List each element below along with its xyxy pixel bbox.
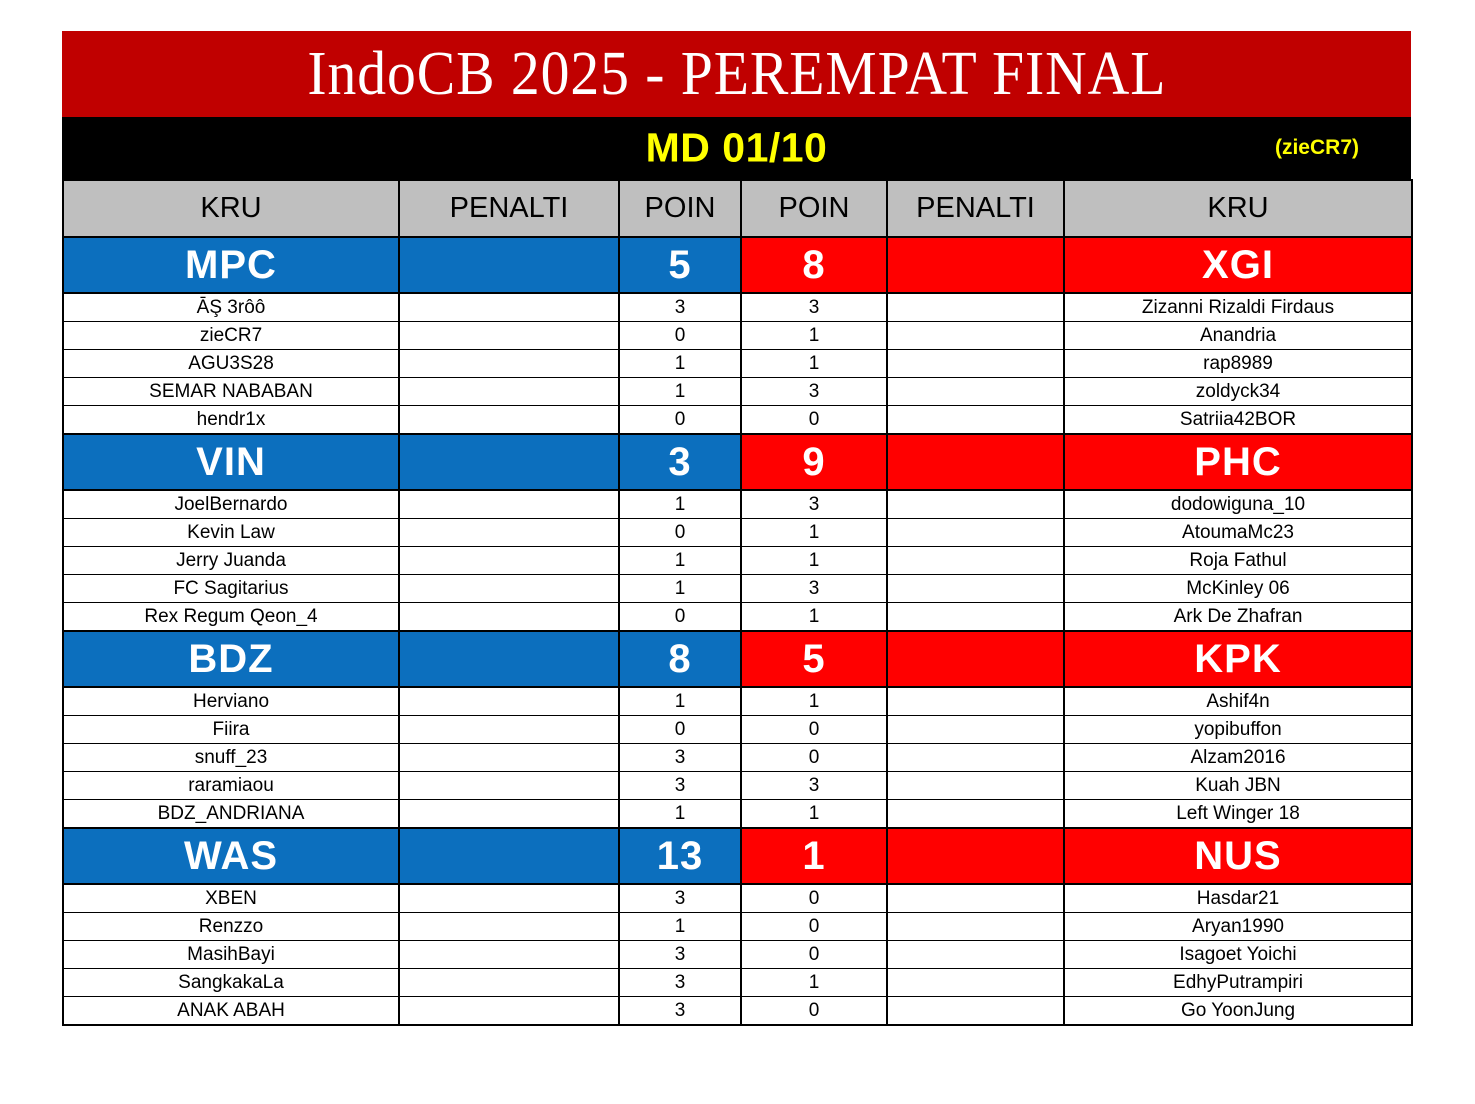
away-player-points: 1 bbox=[741, 603, 887, 632]
home-player-points: 3 bbox=[619, 969, 741, 997]
away-score: 9 bbox=[741, 434, 887, 490]
player-row: Herviano11Ashif4n bbox=[63, 687, 1412, 716]
player-row: XBEN30Hasdar21 bbox=[63, 884, 1412, 913]
home-player-penalty bbox=[399, 547, 619, 575]
home-team-name: WAS bbox=[63, 828, 399, 884]
away-player-points: 0 bbox=[741, 716, 887, 744]
scoreboard-sheet: IndoCB 2025 - PEREMPAT FINAL MD 01/10 (z… bbox=[62, 31, 1411, 1026]
away-player-name: Left Winger 18 bbox=[1064, 800, 1412, 829]
home-team-name: VIN bbox=[63, 434, 399, 490]
match-header-row: VIN39PHC bbox=[63, 434, 1412, 490]
away-team-name: XGI bbox=[1064, 237, 1412, 293]
home-player-penalty bbox=[399, 603, 619, 632]
away-player-points: 1 bbox=[741, 519, 887, 547]
home-player-points: 3 bbox=[619, 744, 741, 772]
player-row: ANAK ABAH30Go YoonJung bbox=[63, 997, 1412, 1026]
away-player-name: Go YoonJung bbox=[1064, 997, 1412, 1026]
home-player-penalty bbox=[399, 884, 619, 913]
away-player-points: 0 bbox=[741, 941, 887, 969]
home-penalty-cell bbox=[399, 828, 619, 884]
header-penalti-left: PENALTI bbox=[399, 180, 619, 237]
away-player-name: yopibuffon bbox=[1064, 716, 1412, 744]
home-player-name: snuff_23 bbox=[63, 744, 399, 772]
matchday-credit: (zieCR7) bbox=[1275, 136, 1359, 160]
home-player-points: 1 bbox=[619, 378, 741, 406]
away-player-points: 0 bbox=[741, 913, 887, 941]
home-player-penalty bbox=[399, 744, 619, 772]
header-poin-right: POIN bbox=[741, 180, 887, 237]
away-player-points: 3 bbox=[741, 378, 887, 406]
away-player-penalty bbox=[887, 519, 1064, 547]
away-player-penalty bbox=[887, 603, 1064, 632]
home-player-name: Fiira bbox=[63, 716, 399, 744]
away-player-penalty bbox=[887, 884, 1064, 913]
away-player-points: 0 bbox=[741, 744, 887, 772]
home-player-points: 1 bbox=[619, 687, 741, 716]
home-player-name: Herviano bbox=[63, 687, 399, 716]
home-player-name: FC Sagitarius bbox=[63, 575, 399, 603]
away-player-name: Ashif4n bbox=[1064, 687, 1412, 716]
home-player-points: 3 bbox=[619, 884, 741, 913]
home-player-name: Rex Regum Qeon_4 bbox=[63, 603, 399, 632]
away-player-penalty bbox=[887, 687, 1064, 716]
home-player-penalty bbox=[399, 997, 619, 1026]
away-player-penalty bbox=[887, 800, 1064, 829]
header-poin-left: POIN bbox=[619, 180, 741, 237]
away-player-name: Isagoet Yoichi bbox=[1064, 941, 1412, 969]
away-player-name: Hasdar21 bbox=[1064, 884, 1412, 913]
away-player-penalty bbox=[887, 490, 1064, 519]
home-player-name: JoelBernardo bbox=[63, 490, 399, 519]
away-player-name: dodowiguna_10 bbox=[1064, 490, 1412, 519]
scoreboard-body: KRU PENALTI POIN POIN PENALTI KRU MPC58X… bbox=[63, 180, 1412, 1025]
player-row: SEMAR NABABAN13zoldyck34 bbox=[63, 378, 1412, 406]
home-player-points: 1 bbox=[619, 575, 741, 603]
home-score: 8 bbox=[619, 631, 741, 687]
header-kru-left: KRU bbox=[63, 180, 399, 237]
away-player-name: Aryan1990 bbox=[1064, 913, 1412, 941]
player-row: FC Sagitarius13McKinley 06 bbox=[63, 575, 1412, 603]
home-player-name: XBEN bbox=[63, 884, 399, 913]
home-player-name: SEMAR NABABAN bbox=[63, 378, 399, 406]
away-player-points: 3 bbox=[741, 490, 887, 519]
match-header-row: MPC58XGI bbox=[63, 237, 1412, 293]
home-penalty-cell bbox=[399, 434, 619, 490]
away-team-name: KPK bbox=[1064, 631, 1412, 687]
away-player-penalty bbox=[887, 772, 1064, 800]
home-player-points: 1 bbox=[619, 800, 741, 829]
player-row: JoelBernardo13dodowiguna_10 bbox=[63, 490, 1412, 519]
player-row: SangkakaLa31EdhyPutrampiri bbox=[63, 969, 1412, 997]
home-player-points: 0 bbox=[619, 519, 741, 547]
home-player-penalty bbox=[399, 519, 619, 547]
home-player-points: 3 bbox=[619, 293, 741, 322]
away-player-points: 1 bbox=[741, 687, 887, 716]
home-player-points: 1 bbox=[619, 547, 741, 575]
away-player-penalty bbox=[887, 969, 1064, 997]
away-player-name: Alzam2016 bbox=[1064, 744, 1412, 772]
away-player-name: EdhyPutrampiri bbox=[1064, 969, 1412, 997]
away-team-name: NUS bbox=[1064, 828, 1412, 884]
header-kru-right: KRU bbox=[1064, 180, 1412, 237]
home-player-name: Kevin Law bbox=[63, 519, 399, 547]
away-score: 1 bbox=[741, 828, 887, 884]
tournament-title-banner: IndoCB 2025 - PEREMPAT FINAL bbox=[62, 31, 1411, 117]
column-header-row: KRU PENALTI POIN POIN PENALTI KRU bbox=[63, 180, 1412, 237]
away-player-penalty bbox=[887, 913, 1064, 941]
player-row: snuff_2330Alzam2016 bbox=[63, 744, 1412, 772]
away-player-penalty bbox=[887, 547, 1064, 575]
home-player-points: 1 bbox=[619, 350, 741, 378]
home-player-penalty bbox=[399, 716, 619, 744]
away-player-name: Zizanni Rizaldi Firdaus bbox=[1064, 293, 1412, 322]
away-player-penalty bbox=[887, 293, 1064, 322]
away-player-name: Anandria bbox=[1064, 322, 1412, 350]
matchday-label: MD 01/10 bbox=[62, 125, 1411, 172]
home-player-penalty bbox=[399, 322, 619, 350]
away-player-name: Ark De Zhafran bbox=[1064, 603, 1412, 632]
home-penalty-cell bbox=[399, 237, 619, 293]
away-player-name: rap8989 bbox=[1064, 350, 1412, 378]
away-player-penalty bbox=[887, 575, 1064, 603]
home-player-name: SangkakaLa bbox=[63, 969, 399, 997]
home-player-name: AGU3S28 bbox=[63, 350, 399, 378]
home-player-name: raramiaou bbox=[63, 772, 399, 800]
away-player-penalty bbox=[887, 406, 1064, 435]
player-row: Kevin Law01AtoumaMc23 bbox=[63, 519, 1412, 547]
player-row: BDZ_ANDRIANA11Left Winger 18 bbox=[63, 800, 1412, 829]
away-player-penalty bbox=[887, 744, 1064, 772]
home-player-name: Renzzo bbox=[63, 913, 399, 941]
away-player-points: 1 bbox=[741, 969, 887, 997]
player-row: zieCR701Anandria bbox=[63, 322, 1412, 350]
away-score: 5 bbox=[741, 631, 887, 687]
home-player-points: 0 bbox=[619, 716, 741, 744]
header-penalti-right: PENALTI bbox=[887, 180, 1064, 237]
home-player-name: zieCR7 bbox=[63, 322, 399, 350]
away-player-name: Kuah JBN bbox=[1064, 772, 1412, 800]
player-row: ĀŞ 3rôô33Zizanni Rizaldi Firdaus bbox=[63, 293, 1412, 322]
home-player-points: 3 bbox=[619, 941, 741, 969]
away-score: 8 bbox=[741, 237, 887, 293]
away-player-penalty bbox=[887, 378, 1064, 406]
player-row: Jerry Juanda11Roja Fathul bbox=[63, 547, 1412, 575]
home-player-penalty bbox=[399, 687, 619, 716]
tournament-title: IndoCB 2025 - PEREMPAT FINAL bbox=[307, 43, 1166, 105]
player-row: AGU3S2811rap8989 bbox=[63, 350, 1412, 378]
player-row: Rex Regum Qeon_401Ark De Zhafran bbox=[63, 603, 1412, 632]
home-player-penalty bbox=[399, 800, 619, 829]
home-player-penalty bbox=[399, 378, 619, 406]
player-row: raramiaou33Kuah JBN bbox=[63, 772, 1412, 800]
match-header-row: BDZ85KPK bbox=[63, 631, 1412, 687]
home-player-penalty bbox=[399, 350, 619, 378]
away-player-points: 3 bbox=[741, 293, 887, 322]
away-player-points: 0 bbox=[741, 406, 887, 435]
away-player-points: 1 bbox=[741, 350, 887, 378]
away-player-name: Satriia42BOR bbox=[1064, 406, 1412, 435]
home-player-points: 3 bbox=[619, 772, 741, 800]
away-penalty-cell bbox=[887, 828, 1064, 884]
home-player-penalty bbox=[399, 293, 619, 322]
home-player-points: 0 bbox=[619, 406, 741, 435]
player-row: hendr1x00Satriia42BOR bbox=[63, 406, 1412, 435]
home-team-name: MPC bbox=[63, 237, 399, 293]
home-player-penalty bbox=[399, 969, 619, 997]
home-score: 13 bbox=[619, 828, 741, 884]
away-player-penalty bbox=[887, 322, 1064, 350]
home-player-penalty bbox=[399, 406, 619, 435]
player-row: Renzzo10Aryan1990 bbox=[63, 913, 1412, 941]
away-player-penalty bbox=[887, 350, 1064, 378]
home-player-penalty bbox=[399, 575, 619, 603]
away-player-points: 3 bbox=[741, 772, 887, 800]
away-player-points: 1 bbox=[741, 322, 887, 350]
match-header-row: WAS131NUS bbox=[63, 828, 1412, 884]
away-player-points: 0 bbox=[741, 884, 887, 913]
away-penalty-cell bbox=[887, 631, 1064, 687]
away-player-name: AtoumaMc23 bbox=[1064, 519, 1412, 547]
home-penalty-cell bbox=[399, 631, 619, 687]
away-player-penalty bbox=[887, 997, 1064, 1026]
home-player-penalty bbox=[399, 941, 619, 969]
home-player-name: hendr1x bbox=[63, 406, 399, 435]
away-player-name: Roja Fathul bbox=[1064, 547, 1412, 575]
home-player-points: 1 bbox=[619, 490, 741, 519]
home-player-name: ĀŞ 3rôô bbox=[63, 293, 399, 322]
home-player-penalty bbox=[399, 772, 619, 800]
away-player-name: McKinley 06 bbox=[1064, 575, 1412, 603]
home-player-points: 0 bbox=[619, 322, 741, 350]
away-penalty-cell bbox=[887, 237, 1064, 293]
home-player-points: 1 bbox=[619, 913, 741, 941]
away-player-penalty bbox=[887, 941, 1064, 969]
player-row: MasihBayi30Isagoet Yoichi bbox=[63, 941, 1412, 969]
home-score: 5 bbox=[619, 237, 741, 293]
away-player-points: 3 bbox=[741, 575, 887, 603]
away-player-points: 1 bbox=[741, 800, 887, 829]
away-player-penalty bbox=[887, 716, 1064, 744]
home-player-name: ANAK ABAH bbox=[63, 997, 399, 1026]
away-player-points: 1 bbox=[741, 547, 887, 575]
home-player-name: BDZ_ANDRIANA bbox=[63, 800, 399, 829]
home-player-points: 3 bbox=[619, 997, 741, 1026]
home-team-name: BDZ bbox=[63, 631, 399, 687]
home-player-penalty bbox=[399, 913, 619, 941]
away-penalty-cell bbox=[887, 434, 1064, 490]
away-team-name: PHC bbox=[1064, 434, 1412, 490]
home-player-points: 0 bbox=[619, 603, 741, 632]
scoreboard-table: KRU PENALTI POIN POIN PENALTI KRU MPC58X… bbox=[62, 179, 1413, 1026]
player-row: Fiira00yopibuffon bbox=[63, 716, 1412, 744]
home-score: 3 bbox=[619, 434, 741, 490]
away-player-name: zoldyck34 bbox=[1064, 378, 1412, 406]
home-player-name: Jerry Juanda bbox=[63, 547, 399, 575]
scoreboard-page: IndoCB 2025 - PEREMPAT FINAL MD 01/10 (z… bbox=[0, 0, 1475, 1104]
home-player-penalty bbox=[399, 490, 619, 519]
matchday-banner: MD 01/10 (zieCR7) bbox=[62, 117, 1411, 179]
away-player-points: 0 bbox=[741, 997, 887, 1026]
home-player-name: MasihBayi bbox=[63, 941, 399, 969]
